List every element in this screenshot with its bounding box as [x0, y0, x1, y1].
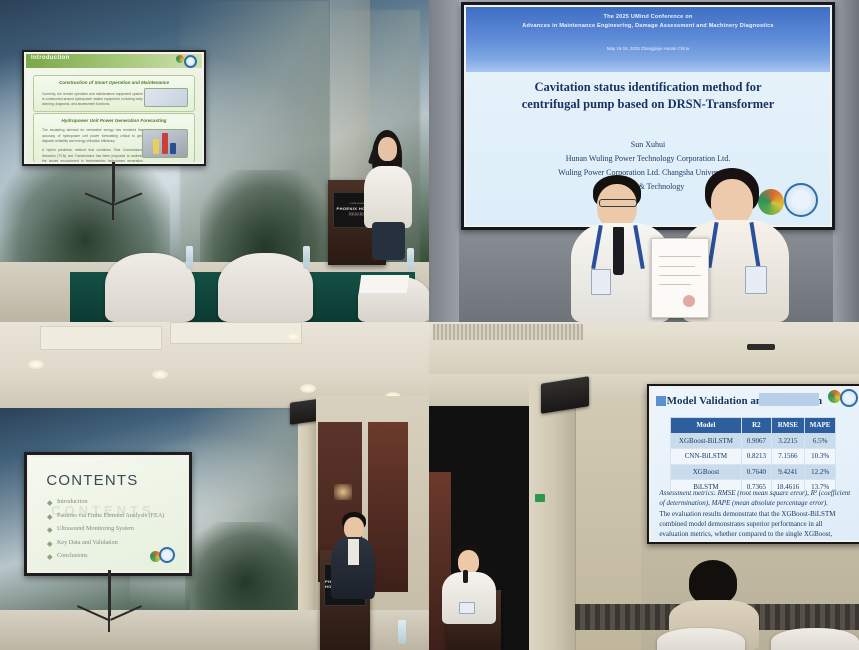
- cell-r2: 0.8213: [742, 449, 771, 464]
- wall-column-left: [429, 0, 459, 322]
- chart-bar-yellow: [153, 139, 159, 154]
- presenter3-head: [344, 517, 364, 539]
- conference-room-scene-2: CONTENTS CONTENTS Introduction Patterns …: [0, 322, 429, 650]
- note-line-1: Assessment metrics: RMSE (root mean squa…: [659, 489, 850, 497]
- ceiling-slot: [747, 344, 775, 350]
- slide-thumbnail-chart: [142, 129, 187, 159]
- contents-item: Ultrasound Monitoring System: [48, 525, 178, 532]
- document-on-table: [359, 275, 410, 293]
- exit-sign: [535, 494, 545, 502]
- cell-rmse: 3.2215: [771, 433, 805, 448]
- projector-screen-4: Model Validation and Evaluation Model R2…: [647, 384, 859, 544]
- slide-model-validation: Model Validation and Evaluation Model R2…: [651, 388, 859, 540]
- presenter-body: [364, 166, 412, 228]
- title-line-2: centrifugal pump based on DRSN-Transform…: [484, 96, 812, 113]
- cell-model: XGBoost-BiLSTM: [670, 433, 741, 448]
- box2-heading-plain: Hydropower Unit: [62, 118, 100, 123]
- wall-pillar: [298, 400, 316, 620]
- col-mape: MAPE: [805, 417, 836, 433]
- recipient-tie: [613, 227, 624, 275]
- chair: [105, 253, 195, 322]
- conference-logo-blue: [159, 547, 175, 563]
- screen-tripod: [70, 570, 150, 632]
- conference-room-scene-3: Model Validation and Evaluation Model R2…: [429, 322, 859, 650]
- cell-r2: 0.9067: [742, 433, 771, 448]
- validation-note: Assessment metrics: RMSE (root mean squa…: [659, 488, 852, 540]
- photo-top-right: The 2025 UMind Conference on Advances in…: [429, 0, 859, 322]
- cell-r2: 0.7640: [742, 464, 771, 479]
- slide-introduction: Introduction Construction of Smart Opera…: [26, 54, 202, 162]
- contents-heading: CONTENTS: [46, 472, 138, 489]
- author-name: Sun Xuhui: [488, 138, 808, 152]
- award-certificate: [651, 238, 709, 318]
- box2-heading: Hydropower Unit Power Generation Forecas…: [44, 118, 185, 123]
- cell-mape: 12.2%: [805, 464, 836, 479]
- wall-sconce: [334, 484, 352, 500]
- slide-bullet-square: [656, 396, 666, 406]
- presenter-male: [330, 512, 378, 617]
- table-row: XGBoost-BiLSTM 0.9067 3.2215 6.5%: [670, 433, 835, 448]
- conference-logo-blue: [184, 55, 197, 68]
- microphone: [463, 570, 468, 583]
- slide-thumbnail-diagram: [144, 88, 188, 107]
- projector-screen-1: Introduction Construction of Smart Opera…: [22, 50, 206, 166]
- contents-item: Key Data and Validation: [48, 539, 178, 546]
- box2-heading-emphasis: Power Generation Forecasting: [100, 118, 167, 123]
- slide-box-smart-om: Construction of Smart Operation and Main…: [33, 75, 195, 113]
- conference-room-scene-1: Introduction Construction of Smart Opera…: [0, 0, 429, 322]
- cell-mape: 10.3%: [805, 449, 836, 464]
- presenter-female: [358, 130, 420, 260]
- contents-item: Introduction: [48, 498, 178, 505]
- certificate-line: [659, 284, 691, 285]
- wall-pillar: [529, 382, 575, 650]
- ceiling-grille: [433, 324, 583, 340]
- slide-highlight-box: [759, 393, 819, 406]
- chart-bar-red: [162, 133, 168, 154]
- audience-chair: [771, 628, 859, 650]
- presenter4-badge: [459, 602, 475, 614]
- ceiling-light: [300, 384, 316, 393]
- ceiling-light: [152, 370, 168, 379]
- chart-bar-blue: [170, 143, 176, 154]
- mural-tree: [185, 522, 305, 622]
- note-line-4: combined model demonstrates superior per…: [659, 520, 822, 528]
- cell-rmse: 9.4241: [771, 464, 805, 479]
- box1-heading: Construction of Smart Operation and Main…: [44, 80, 185, 85]
- col-r2: R2: [742, 417, 771, 433]
- presenter-at-podium: [441, 544, 497, 624]
- cell-mape: 6.5%: [805, 433, 836, 448]
- presenter2-head: [711, 179, 753, 225]
- certificate-line: [659, 266, 695, 267]
- water-bottle: [407, 248, 414, 271]
- col-rmse: RMSE: [771, 417, 805, 433]
- certificate-line: [659, 256, 702, 257]
- cell-model: CNN-BiLSTM: [670, 449, 741, 464]
- note-line-2: of determination), MAPE (mean absolute p…: [659, 499, 828, 507]
- presenter4-head: [458, 550, 479, 574]
- photo-top-left: Introduction Construction of Smart Opera…: [0, 0, 429, 322]
- audience-chair: [657, 628, 745, 650]
- table-row: XGBoost 0.7640 9.4241 12.2%: [670, 464, 835, 479]
- slide-box-forecasting: Hydropower Unit Power Generation Forecas…: [33, 113, 195, 162]
- conference-logo-orange: [176, 55, 184, 63]
- slide-contents: CONTENTS CONTENTS Introduction Patterns …: [29, 457, 187, 571]
- screen-tripod: [80, 162, 150, 220]
- wall-grille: [485, 442, 527, 532]
- box2-body-1: The escalating demand for renewable ener…: [42, 128, 143, 143]
- conference-banner: The 2025 UMind Conference on Advances in…: [466, 7, 830, 72]
- box2-body-2: A hybrid prediction method that combines…: [42, 148, 143, 162]
- banner-line-3: May 16-19, 2025 Zhangjiajie Hunan China: [488, 46, 808, 51]
- award-ceremony-scene: The 2025 UMind Conference on Advances in…: [429, 0, 859, 322]
- chair: [218, 253, 313, 322]
- certificate-line: [659, 275, 702, 276]
- photo-bottom-left: CONTENTS CONTENTS Introduction Patterns …: [0, 322, 429, 650]
- table-row: CNN-BiLSTM 0.8213 7.1566 10.3%: [670, 449, 835, 464]
- presenter4-shirt: [442, 572, 496, 624]
- note-line-5: evaluation metrics, whether compared to …: [659, 530, 832, 538]
- presentation-title: Cavitation status identification method …: [484, 79, 812, 113]
- projector-screen-3: CONTENTS CONTENTS Introduction Patterns …: [24, 452, 192, 576]
- ceiling-light: [285, 332, 301, 341]
- slide-header-title: Introduction: [31, 55, 70, 61]
- ceiling-coffer: [40, 326, 162, 350]
- box1-heading-plain: Construction of: [59, 80, 94, 85]
- banner-line-2: Advances in Maintenance Engineering, Dam…: [473, 23, 822, 29]
- certificate-seal: [683, 295, 695, 307]
- ceiling-light: [28, 360, 44, 369]
- water-bottle: [186, 246, 193, 269]
- box1-body: Currently, the remote operation and main…: [42, 92, 143, 107]
- recipient-glasses: [599, 199, 637, 207]
- presenter2-badge: [745, 266, 767, 294]
- water-bottle: [303, 246, 310, 269]
- wall-column-right: [833, 0, 859, 322]
- conference-logo-blue: [840, 389, 858, 407]
- cell-model: XGBoost: [670, 464, 741, 479]
- water-bottle: [398, 620, 406, 644]
- cell-rmse: 7.1566: [771, 449, 805, 464]
- audience-hair: [689, 560, 737, 604]
- table-header-row: Model R2 RMSE MAPE: [670, 417, 835, 433]
- validation-table: Model R2 RMSE MAPE XGBoost-BiLSTM 0.9067…: [670, 417, 836, 496]
- presenter-trousers: [372, 222, 405, 260]
- presenter3-shirt: [348, 539, 359, 565]
- box1-heading-emphasis: Smart Operation and Maintenance: [94, 80, 169, 85]
- ceiling-coffer: [170, 322, 302, 344]
- affiliation-1: Hunan Wuling Power Technology Corporatio…: [488, 152, 808, 166]
- title-line-1: Cavitation status identification method …: [484, 79, 812, 96]
- banner-line-1: The 2025 UMind Conference on: [488, 14, 808, 20]
- photo-bottom-right: Model Validation and Evaluation Model R2…: [429, 322, 859, 650]
- photo-collage: Introduction Construction of Smart Opera…: [0, 0, 859, 650]
- col-model: Model: [670, 417, 741, 433]
- presenter-head: [378, 137, 397, 161]
- note-line-3: The evaluation results demonstrate that …: [659, 510, 835, 518]
- recipient-badge: [591, 269, 611, 295]
- contents-item: Patterns via Finite Element Analysis (FE…: [48, 512, 178, 519]
